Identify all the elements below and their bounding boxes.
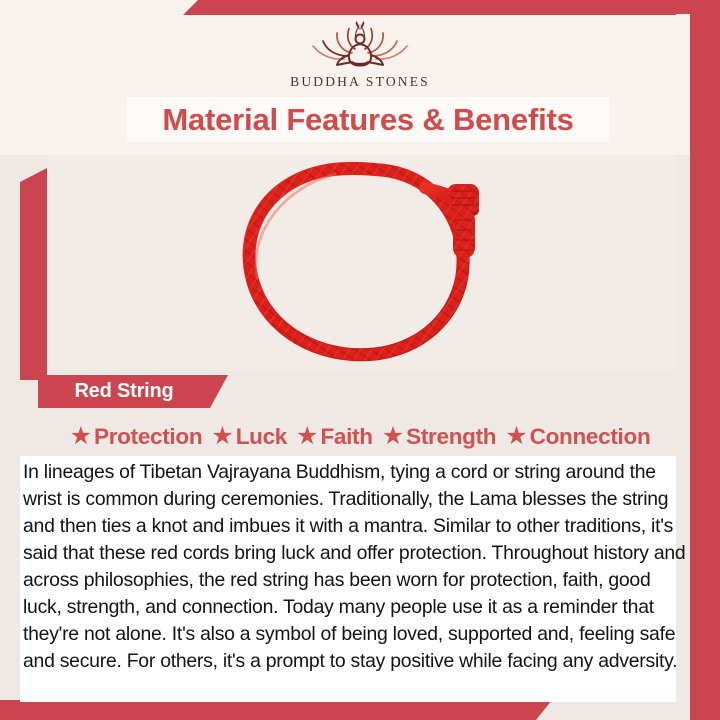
left-red-bar — [20, 168, 47, 380]
brand-logo: BUDDHA STONES — [0, 18, 720, 90]
benefit-item-strength: ★ Strength — [382, 424, 497, 450]
product-image — [215, 158, 505, 370]
benefits-list: ★ Protection ★ Luck ★ Faith ★ Strength ★… — [36, 420, 684, 454]
benefit-label: Luck — [236, 424, 287, 450]
star-icon: ★ — [296, 424, 318, 449]
star-icon: ★ — [382, 424, 404, 449]
benefit-label: Connection — [530, 424, 651, 450]
benefit-item-connection: ★ Connection — [505, 424, 650, 450]
benefit-item-protection: ★ Protection — [70, 424, 203, 450]
benefit-label: Protection — [94, 424, 202, 450]
page-title: Material Features & Benefits — [127, 97, 609, 142]
product-feature-poster: BUDDHA STONES Material Features & Benefi… — [0, 0, 720, 720]
star-icon: ★ — [211, 424, 233, 449]
benefit-item-faith: ★ Faith — [296, 424, 373, 450]
benefit-label: Strength — [406, 424, 496, 450]
lotus-meditation-figure-icon — [306, 18, 414, 70]
right-red-bar — [690, 0, 720, 720]
star-icon: ★ — [70, 424, 92, 449]
benefit-item-luck: ★ Luck — [211, 424, 287, 450]
star-icon: ★ — [505, 424, 527, 449]
benefit-label: Faith — [320, 424, 372, 450]
red-braided-bracelet-illustration — [215, 158, 505, 370]
description-text: In lineages of Tibetan Vajrayana Buddhis… — [23, 459, 693, 675]
section-ribbon-label: Red String — [38, 375, 210, 408]
brand-name: BUDDHA STONES — [0, 74, 720, 90]
